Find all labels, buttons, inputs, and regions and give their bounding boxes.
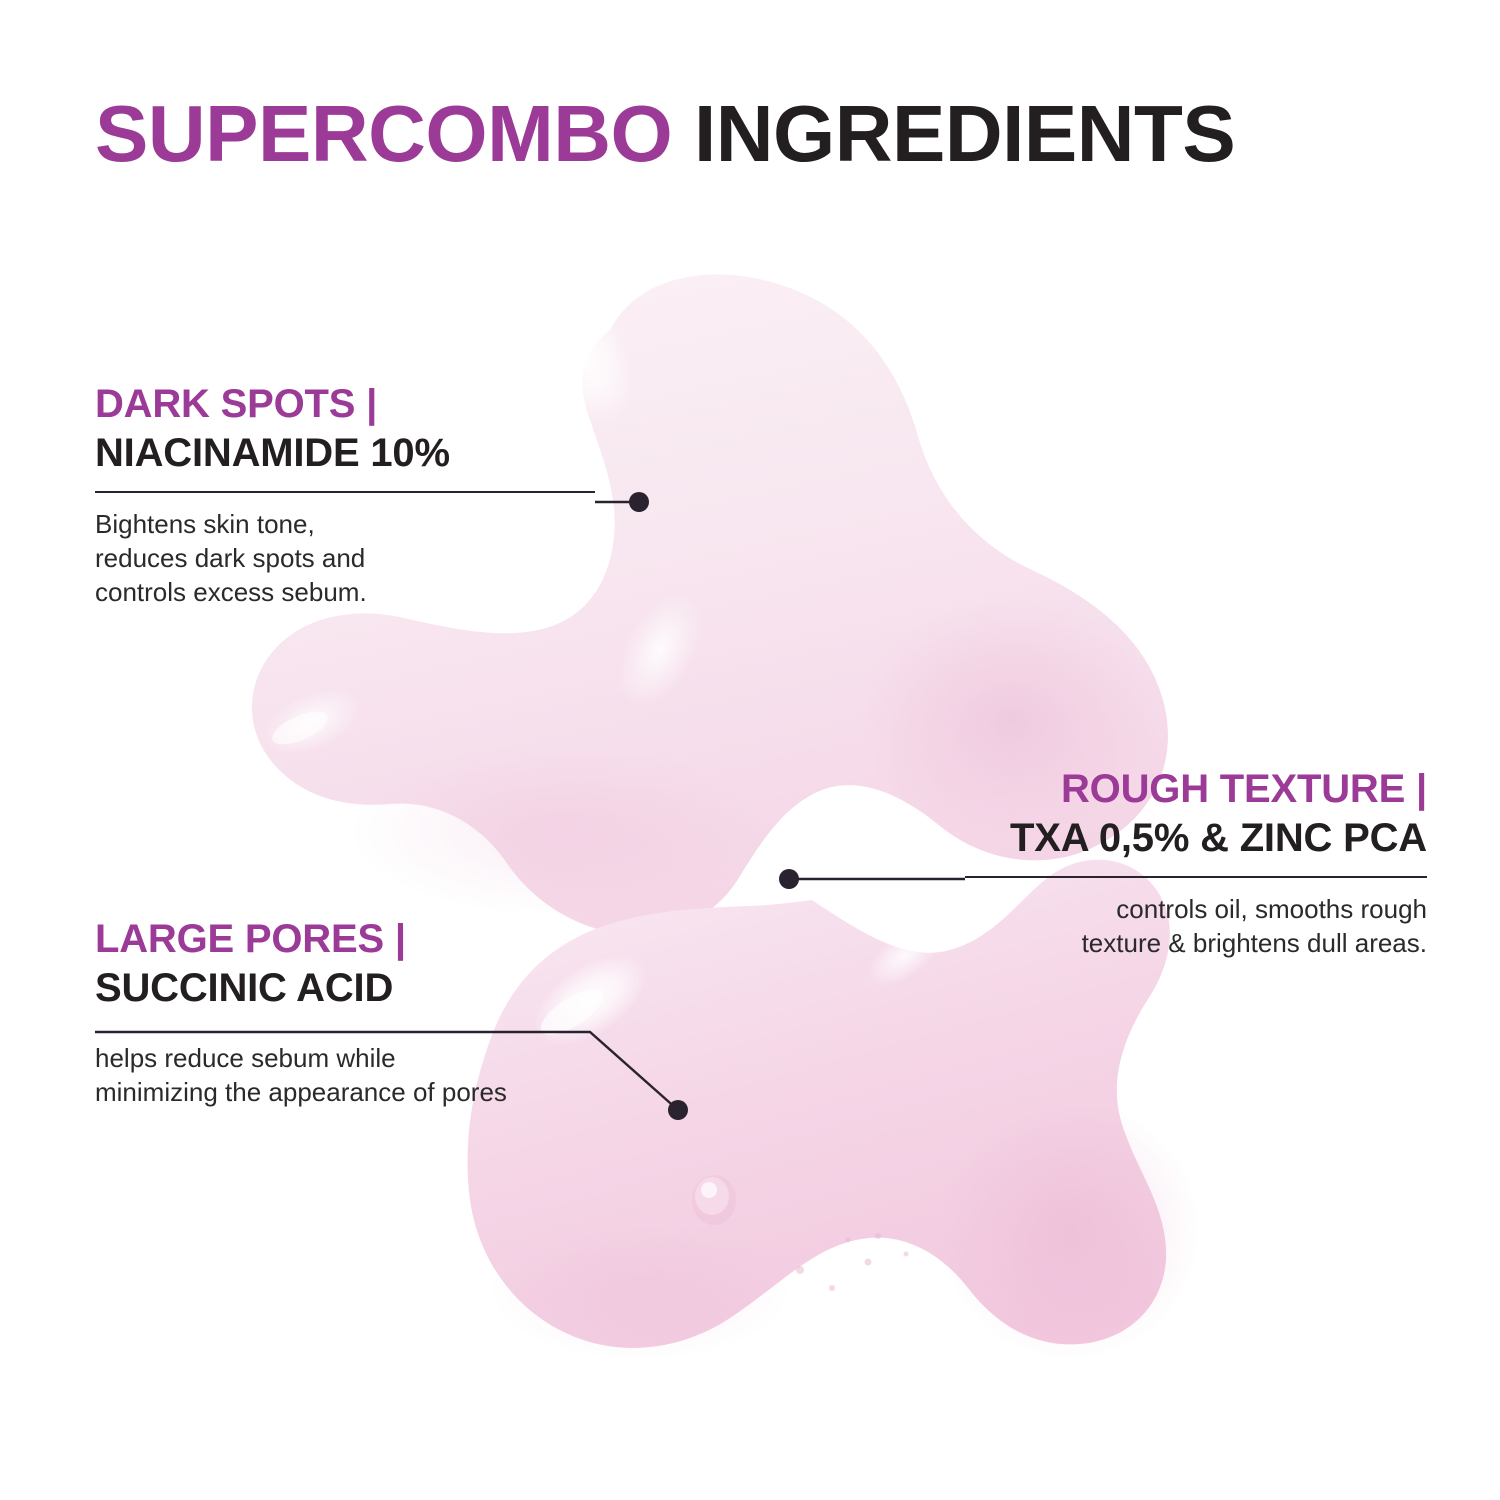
leader-dot-rough-texture <box>779 869 799 889</box>
title-brand-word: SUPERCOMBO <box>95 89 672 178</box>
page-title: SUPERCOMBO INGREDIENTS <box>95 88 1435 180</box>
callout-dark-spots: DARK SPOTS | NIACINAMIDE 10% Bightens sk… <box>95 380 595 609</box>
callout-divider <box>965 876 1427 878</box>
title-rest-word: INGREDIENTS <box>672 89 1235 178</box>
callout-ingredient-label: TXA 0,5% & ZINC PCA <box>965 814 1427 863</box>
callout-heading: LARGE PORES | SUCCINIC ACID <box>95 915 595 1013</box>
callout-concern-label: LARGE PORES | <box>95 915 595 964</box>
gloss-highlight-left-arm <box>253 675 371 768</box>
callout-rough-texture: ROUGH TEXTURE | TXA 0,5% & ZINC PCA cont… <box>965 765 1427 960</box>
callout-ingredient-label: SUCCINIC ACID <box>95 964 595 1013</box>
callout-ingredient-label: NIACINAMIDE 10% <box>95 429 595 478</box>
callout-concern-label: DARK SPOTS | <box>95 380 595 429</box>
micro-bubbles <box>796 1233 909 1291</box>
callout-heading: ROUGH TEXTURE | TXA 0,5% & ZINC PCA <box>965 765 1427 863</box>
callout-divider <box>95 491 595 493</box>
callout-large-pores: LARGE PORES | SUCCINIC ACID helps reduce… <box>95 915 595 1109</box>
callout-heading: DARK SPOTS | NIACINAMIDE 10% <box>95 380 595 478</box>
leader-dot-large-pores <box>668 1100 688 1120</box>
bubble-detail <box>692 1175 736 1225</box>
callout-description: helps reduce sebum while minimizing the … <box>95 1041 595 1109</box>
gloss-highlight-elbow <box>602 581 718 719</box>
leader-dark-spots <box>595 492 649 512</box>
leader-rough-texture <box>779 869 965 889</box>
callout-description: Bightens skin tone, reduces dark spots a… <box>95 507 595 609</box>
infographic-page: SUPERCOMBO INGREDIENTS <box>0 0 1500 1500</box>
leader-dot-dark-spots <box>629 492 649 512</box>
callout-concern-label: ROUGH TEXTURE | <box>965 765 1427 814</box>
callout-description: controls oil, smooths rough texture & br… <box>965 892 1427 960</box>
leader-lines-group <box>0 0 1500 1500</box>
serum-droplet-illustration <box>0 0 1500 1500</box>
